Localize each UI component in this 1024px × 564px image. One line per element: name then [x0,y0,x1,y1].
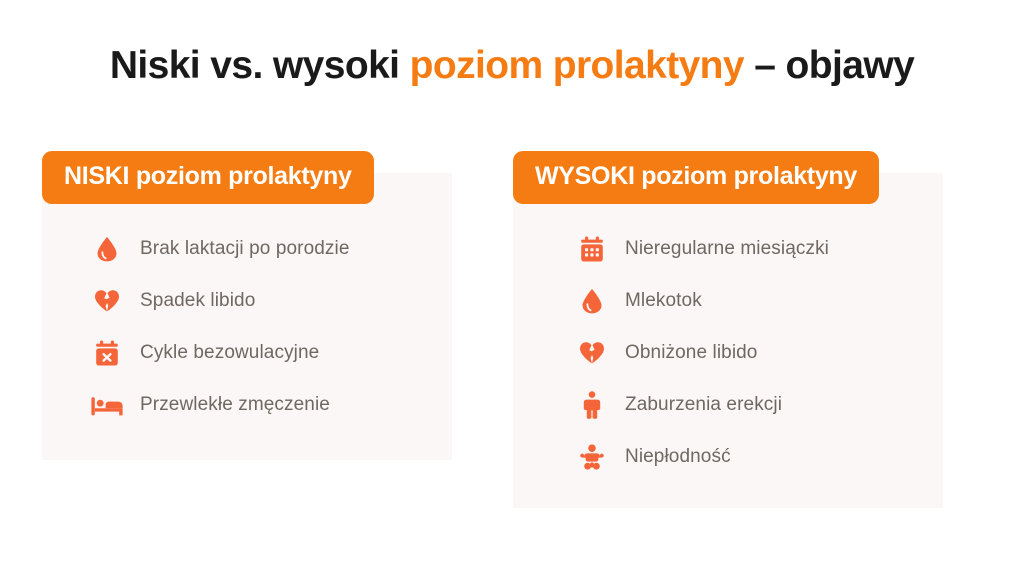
list-item-label: Cykle bezowulacyjne [140,342,319,364]
page-title-part1: Niski vs. wysoki [110,44,410,87]
list-item: Obniżone libido [575,327,943,379]
broken-heart-icon [90,289,124,313]
list-item-label: Spadek libido [140,290,255,312]
list-item: Nieregularne miesiączki [575,223,943,275]
list-item: Zaburzenia erekcji [575,379,943,431]
list-item: Przewlekłe zmęczenie [90,379,452,431]
list-item: Brak laktacji po porodzie [90,223,452,275]
list-item-label: Niepłodność [625,446,731,468]
calendar-x-icon [90,340,124,366]
symptom-list-high: Nieregularne miesiączki Mlekotok Obniżon… [575,223,943,483]
symptom-list-low: Brak laktacji po porodzie Spadek libido [90,223,452,431]
calendar-icon [575,236,609,262]
list-item-label: Nieregularne miesiączki [625,238,829,260]
page-title-part2: – objawy [744,44,914,87]
list-item-label: Brak laktacji po porodzie [140,238,350,260]
page-title: Niski vs. wysoki poziom prolaktyny – obj… [0,44,1024,88]
card-high-prolactin: WYSOKI poziom prolaktyny [513,151,943,508]
list-item: Mlekotok [575,275,943,327]
bed-rest-icon [90,394,124,416]
card-low-prolactin: NISKI poziom prolaktyny Brak laktacji po… [42,151,452,460]
baby-icon [575,444,609,470]
broken-heart-icon [575,341,609,365]
male-figure-icon [575,391,609,419]
card-high-header: WYSOKI poziom prolaktyny [513,151,879,204]
list-item-label: Obniżone libido [625,342,757,364]
list-item: Spadek libido [90,275,452,327]
list-item-label: Zaburzenia erekcji [625,394,782,416]
list-item: Niepłodność [575,431,943,483]
list-item-label: Mlekotok [625,290,702,312]
page-title-accent: poziom prolaktyny [410,44,744,87]
blood-drop-icon [90,236,124,262]
list-item: Cykle bezowulacyjne [90,327,452,379]
card-low-header: NISKI poziom prolaktyny [42,151,374,204]
list-item-label: Przewlekłe zmęczenie [140,394,330,416]
blood-drop-icon [575,288,609,314]
